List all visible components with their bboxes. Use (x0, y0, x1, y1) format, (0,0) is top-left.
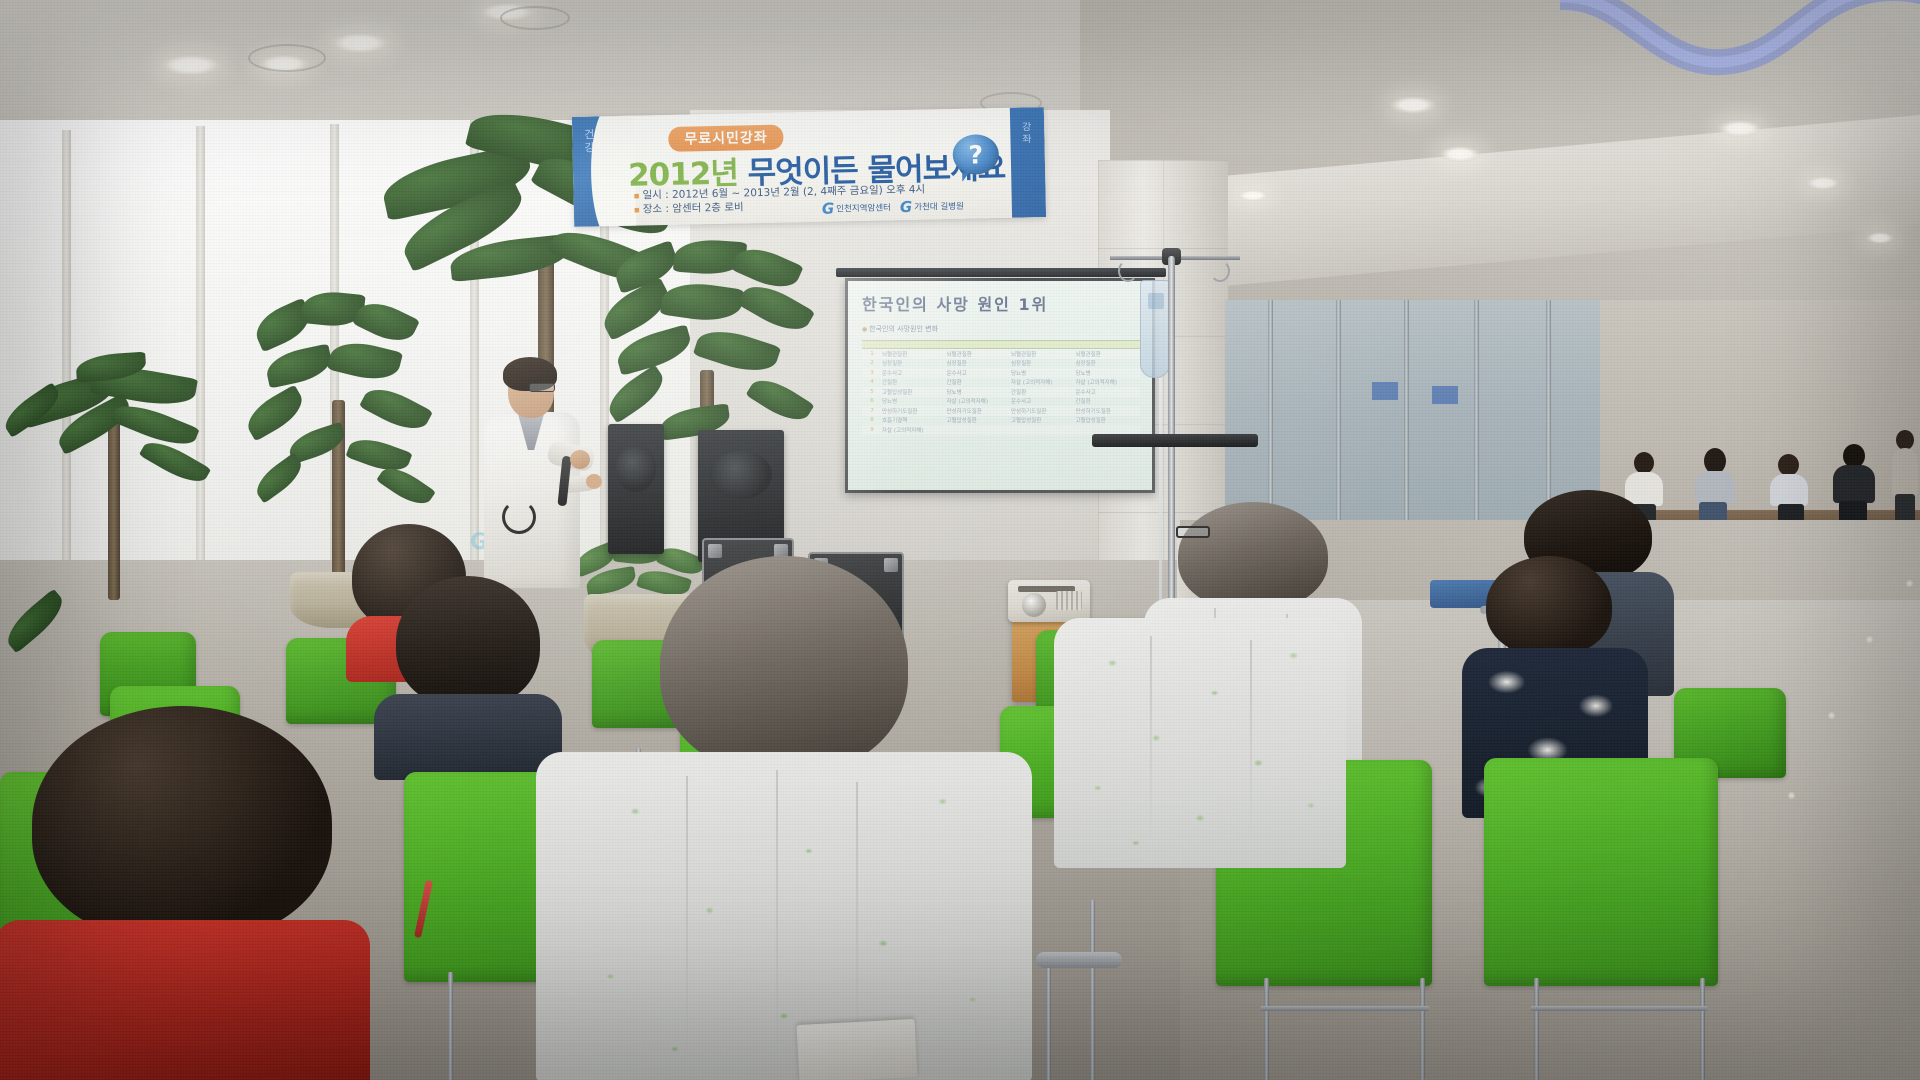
slide-th (973, 341, 1029, 348)
slide-table-row: 8호흡기결핵고혈압성질환고혈압성질환고혈압성질환 (862, 416, 1140, 426)
floor-light-reflection (1866, 636, 1873, 643)
bench-person (1692, 448, 1740, 520)
doctor-hand-pointing (586, 474, 602, 489)
pa-speaker-left (608, 424, 664, 554)
slide-cell: 간질환 (947, 378, 1012, 386)
slide-table-body: 1뇌혈관질환뇌혈관질환뇌혈관질환뇌혈관질환2심장질환심장질환심장질환심장질환3운… (862, 349, 1140, 435)
slide-cell: 운수사고 (947, 369, 1012, 377)
banner-logo-hospital: G 가천대 길병원 (900, 197, 964, 216)
banner-side-text-left: 건강 (580, 128, 597, 154)
ceiling-vent-ring (500, 6, 570, 30)
chair-foreground-far-right (1484, 758, 1718, 986)
ceiling-downlight (1866, 232, 1894, 244)
chair-rail (1530, 1006, 1708, 1011)
banner-right-edge: 강좌 (1010, 107, 1046, 218)
banner-side-text-right: 강좌 (1017, 121, 1032, 145)
slide-th (918, 341, 974, 348)
banner-left-edge: 건강 (572, 116, 620, 227)
projector (1008, 580, 1090, 622)
presenting-doctor (474, 358, 594, 588)
gown-fold (1250, 640, 1252, 840)
slide-cell: 뇌혈관질환 (1011, 350, 1076, 358)
slide-table-row: 3운수사고운수사고당뇨병당뇨병 (862, 368, 1140, 378)
slide-cell: 자살 (고의적자해) (882, 426, 947, 434)
person-torso (0, 920, 370, 1080)
slide-cell: 심장질환 (882, 359, 947, 367)
bench-person (1768, 454, 1814, 520)
slide-rank-cell: 6 (862, 398, 882, 404)
person-head (396, 576, 540, 708)
slide-cell: 간질환 (882, 378, 947, 386)
audience-member-bob-haircut (396, 576, 540, 766)
iv-hook-right (1210, 260, 1230, 282)
chair-leg (1534, 978, 1539, 1080)
leaflet-in-hand (797, 1019, 918, 1080)
person-head (32, 706, 332, 942)
chair-leg (1700, 978, 1705, 1080)
logo-g-mark-2: G (900, 198, 913, 216)
banner-logo-cancer-center: G 인천지역암센터 (822, 198, 891, 217)
presentation-slide: 한국인의 사망 원인 1위 한국인의 사망원인 변화 1뇌혈관질환뇌혈관질환뇌혈… (848, 281, 1152, 490)
audience-member-front-gown (660, 556, 908, 1080)
ceiling-downlight (1238, 190, 1268, 201)
stethoscope (502, 500, 536, 534)
ceiling-downlight (1718, 120, 1762, 137)
slide-cell: 고혈압성질환 (1011, 416, 1076, 424)
slide-title: 한국인의 사망 원인 1위 (862, 291, 1144, 315)
gown-fold (686, 776, 688, 1056)
projector-vent (1056, 591, 1082, 610)
potted-palm-left (0, 290, 230, 590)
iv-hook-left (1118, 260, 1138, 282)
ceiling-vent-ring (248, 44, 326, 72)
screen-bottom-bar (1092, 434, 1258, 447)
slide-rank-cell: 7 (862, 408, 882, 414)
audience-glasses-profile (1176, 512, 1216, 552)
slide-th (1029, 341, 1085, 348)
slide-table-header (862, 340, 1140, 349)
floor-light-reflection (1828, 712, 1835, 719)
person-torso-gown (536, 752, 1032, 1080)
ceiling-downlight (160, 54, 222, 76)
question-mark-glyph: ? (952, 134, 999, 175)
event-banner: 건강 강좌 무료시민강좌 2012년 무엇이든 물어보세요 일시 : 2012년… (572, 107, 1046, 227)
slide-table: 1뇌혈관질환뇌혈관질환뇌혈관질환뇌혈관질환2심장질환심장질환심장질환심장질환3운… (862, 340, 1140, 435)
ceiling-downlight (330, 32, 390, 54)
slide-table-row: 7만성하기도질환만성하기도질환만성하기도질환만성하기도질환 (862, 406, 1140, 416)
chair-leg (1090, 900, 1095, 1080)
slide-table-row: 4간질환간질환자살 (고의적자해)자살 (고의적자해) (862, 378, 1140, 388)
slide-cell: 자살 (고의적자해) (947, 397, 1012, 405)
floor-light-reflection (1788, 792, 1795, 799)
logo-name: 인천지역암센터 (836, 201, 891, 214)
doctor-hand (570, 450, 590, 469)
door-sign (1432, 386, 1458, 404)
eyeglasses (1176, 526, 1210, 538)
slide-rank-cell: 5 (862, 389, 882, 395)
slide-rank-cell: 4 (862, 379, 882, 385)
slide-cell: 고혈압성질환 (882, 388, 947, 396)
slide-table-row: 2심장질환심장질환심장질환심장질환 (862, 359, 1140, 369)
slide-cell: 호흡기결핵 (882, 416, 947, 424)
slide-cell: 자살 (고의적자해) (1011, 378, 1076, 386)
chair-armrest (1036, 952, 1122, 968)
slide-cell: 운수사고 (1011, 397, 1076, 405)
slide-cell: 만성하기도질환 (947, 407, 1012, 415)
slide-cell: 뇌혈관질환 (882, 350, 947, 358)
question-mark-icon: ? (952, 134, 999, 175)
standing-person (1890, 430, 1920, 526)
slide-table-row: 1뇌혈관질환뇌혈관질환뇌혈관질환뇌혈관질환 (862, 349, 1140, 359)
gown-floral-pattern (536, 752, 1032, 1080)
gown-fold (856, 782, 858, 1052)
door-sign (1372, 382, 1398, 400)
slide-cell: 고혈압성질환 (947, 416, 1012, 424)
person-head (660, 556, 908, 774)
doctor-glasses (529, 383, 555, 392)
slide-th (862, 341, 918, 348)
logo-name-2: 가천대 길병원 (914, 200, 964, 213)
chair-rail (1260, 1006, 1430, 1011)
slide-rank-cell: 1 (862, 351, 882, 357)
projector-lens (1022, 593, 1046, 617)
slide-cell: 당뇨병 (1011, 369, 1076, 377)
person-torso-gown (1054, 618, 1346, 868)
slide-cell: 간질환 (1011, 388, 1076, 396)
chair-leg (448, 972, 453, 1080)
slide-cell: 뇌혈관질환 (947, 350, 1012, 358)
slide-rank-cell: 2 (862, 360, 882, 366)
audience-member-front-left-red (32, 706, 332, 1080)
chair-backrest (1484, 758, 1718, 986)
ceiling-downlight (1806, 176, 1840, 190)
bench-person (1830, 444, 1880, 522)
audience-member-right-gown (1116, 560, 1296, 860)
slide-rank-cell: 8 (862, 417, 882, 423)
gown-floral-pattern (1054, 618, 1346, 868)
chair-leg (1264, 978, 1269, 1080)
slide-rank-cell: 3 (862, 370, 882, 376)
slide-cell: 만성하기도질환 (882, 407, 947, 415)
gown-fold (1150, 636, 1152, 846)
slide-rank-cell: 9 (862, 427, 882, 433)
logo-g-mark: G (822, 199, 835, 217)
slide-cell: 심장질환 (1011, 359, 1076, 367)
chair-leg (1046, 962, 1051, 1080)
slide-cell: 심장질환 (947, 359, 1012, 367)
slide-table-row: 6당뇨병자살 (고의적자해)운수사고간질환 (862, 397, 1140, 407)
slide-cell: 당뇨병 (947, 388, 1012, 396)
gown-fold (776, 770, 778, 1060)
ceiling-downlight (1390, 96, 1436, 114)
ceiling-downlight (1440, 146, 1480, 162)
person-head (1486, 556, 1612, 656)
photo-scene: G인천지역암센터 G인천지역암센터 (0, 0, 1920, 1080)
person-torso (374, 694, 562, 780)
projection-screen-frame: 한국인의 사망 원인 1위 한국인의 사망원인 변화 1뇌혈관질환뇌혈관질환뇌혈… (845, 278, 1155, 493)
slide-cell: 당뇨병 (882, 397, 947, 405)
floor-light-reflection (1906, 580, 1913, 587)
iv-saline-bag (1140, 280, 1170, 378)
banner-logo-group: G 인천지역암센터 G 가천대 길병원 (822, 197, 964, 218)
slide-cell: 운수사고 (882, 369, 947, 377)
chair-leg (1420, 978, 1425, 1080)
slide-subtitle: 한국인의 사망원인 변화 (862, 324, 1144, 334)
slide-cell: 만성하기도질환 (1011, 407, 1076, 415)
slide-table-row: 5고혈압성질환당뇨병간질환운수사고 (862, 387, 1140, 397)
